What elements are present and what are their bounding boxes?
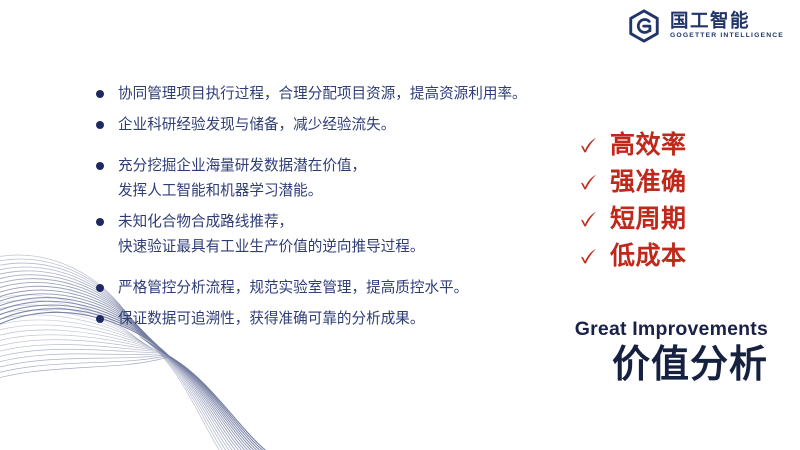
hexagon-g-logo-icon <box>627 9 661 43</box>
highlight-item: 强准确 <box>578 164 687 201</box>
bullet-text-continued: 发挥人工智能和机器学习潜能。 <box>118 179 566 204</box>
highlight-item: 短周期 <box>578 201 687 238</box>
bullet-item: 未知化合物合成路线推荐，快速验证最具有工业生产价值的逆向推导过程。 <box>96 210 566 260</box>
bullet-group: 充分挖掘企业海量研发数据潜在价值，发挥人工智能和机器学习潜能。未知化合物合成路线… <box>96 154 566 260</box>
highlight-item: 高效率 <box>578 127 687 164</box>
bullet-text-continued: 快速验证最具有工业生产价值的逆向推导过程。 <box>118 235 566 260</box>
content-bullet-list: 协同管理项目执行过程，合理分配项目资源，提高资源利用率。企业科研经验发现与储备，… <box>96 82 566 332</box>
bullet-text: 未知化合物合成路线推荐， <box>118 210 566 235</box>
check-icon <box>578 172 599 193</box>
bullet-text: 保证数据可追溯性，获得准确可靠的分析成果。 <box>118 307 566 332</box>
bullet-text: 充分挖掘企业海量研发数据潜在价值， <box>118 154 566 179</box>
brand-logo: 国工智能 GOGETTER INTELLIGENCE <box>627 9 784 43</box>
bullet-item: 充分挖掘企业海量研发数据潜在价值，发挥人工智能和机器学习潜能。 <box>96 154 566 204</box>
brand-logo-text: 国工智能 GOGETTER INTELLIGENCE <box>670 12 784 40</box>
highlight-item: 低成本 <box>578 238 687 275</box>
bullet-dot-icon <box>96 315 104 323</box>
section-title-english: Great Improvements <box>575 318 768 341</box>
section-title-chinese: 价值分析 <box>575 342 768 390</box>
highlight-label: 高效率 <box>610 133 687 158</box>
bullet-item: 保证数据可追溯性，获得准确可靠的分析成果。 <box>96 307 566 332</box>
bullet-text: 协同管理项目执行过程，合理分配项目资源，提高资源利用率。 <box>118 82 566 107</box>
bullet-item: 协同管理项目执行过程，合理分配项目资源，提高资源利用率。 <box>96 82 566 107</box>
section-title-block: Great Improvements 价值分析 <box>575 318 768 390</box>
bullet-dot-icon <box>96 90 104 98</box>
brand-name-cn: 国工智能 <box>670 12 750 31</box>
slide-canvas: 国工智能 GOGETTER INTELLIGENCE 协同管理项目执行过程，合理… <box>0 0 800 450</box>
bullet-item: 严格管控分析流程，规范实验室管理，提高质控水平。 <box>96 276 566 301</box>
check-icon <box>578 246 599 267</box>
brand-name-en: GOGETTER INTELLIGENCE <box>670 33 784 40</box>
bullet-text: 企业科研经验发现与储备，减少经验流失。 <box>118 113 566 138</box>
check-icon <box>578 209 599 230</box>
highlight-label: 低成本 <box>610 244 687 269</box>
bullet-group: 严格管控分析流程，规范实验室管理，提高质控水平。保证数据可追溯性，获得准确可靠的… <box>96 276 566 332</box>
bullet-dot-icon <box>96 218 104 226</box>
highlight-check-list: 高效率强准确短周期低成本 <box>578 127 687 275</box>
bullet-text: 严格管控分析流程，规范实验室管理，提高质控水平。 <box>118 276 566 301</box>
bullet-group: 协同管理项目执行过程，合理分配项目资源，提高资源利用率。企业科研经验发现与储备，… <box>96 82 566 138</box>
bullet-dot-icon <box>96 162 104 170</box>
check-icon <box>578 135 599 156</box>
bullet-dot-icon <box>96 284 104 292</box>
bullet-dot-icon <box>96 121 104 129</box>
bullet-item: 企业科研经验发现与储备，减少经验流失。 <box>96 113 566 138</box>
highlight-label: 短周期 <box>610 207 687 232</box>
highlight-label: 强准确 <box>610 170 687 195</box>
